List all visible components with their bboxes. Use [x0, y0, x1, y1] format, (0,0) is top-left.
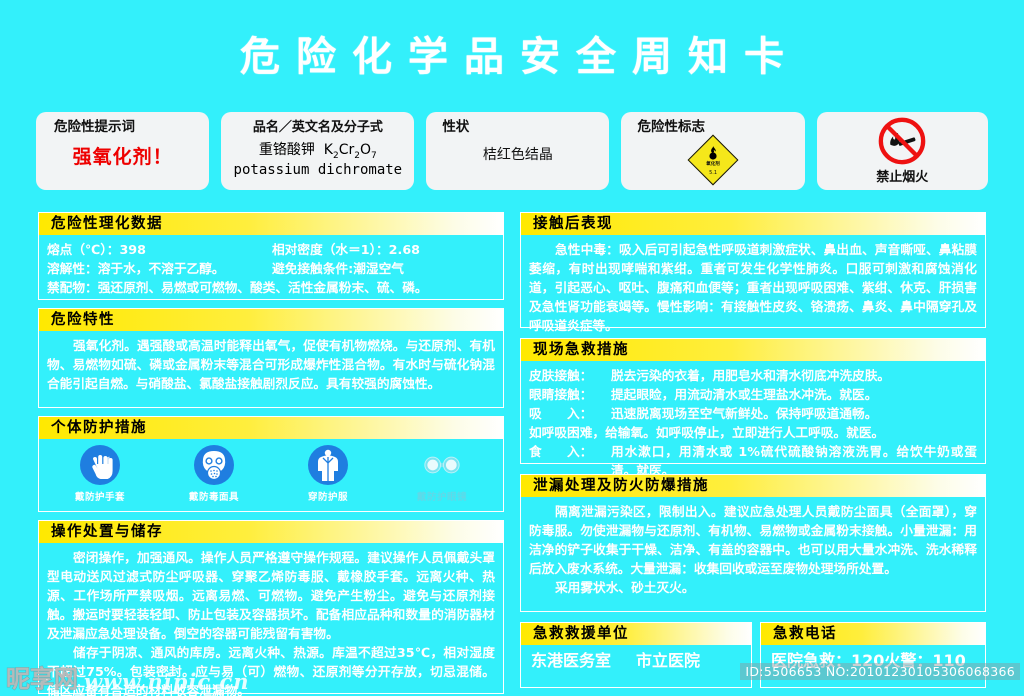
product-name-en: potassium dichromate [231, 162, 404, 178]
product-name-cn-text: 重铬酸钾 [259, 142, 315, 158]
rescue-unit-list: 东港医务室 市立医院 [531, 651, 741, 670]
page-title-text: 危险化学品安全周知卡 [224, 34, 800, 80]
prohibition-label: 禁止烟火 [876, 166, 928, 185]
incompatible-materials: 禁配物：强还原剂、易燃或可燃物、酸类、活性金属粉末、硫、磷。 [47, 278, 495, 297]
first-aid-text-eye: 提起眼睑，用流动清水或生理盐水冲洗。就医。 [611, 385, 977, 404]
exposure-symptoms-text: 急性中毒：吸入后可引起急性呼吸道刺激症状、鼻出血、声音嘶哑、鼻粘膜萎缩，有时出现… [529, 240, 977, 335]
first-aid-row-eye: 眼睛接触： 提起眼睑，用流动清水或生理盐水冲洗。就医。 [529, 385, 977, 404]
ppe-item-goggles: 戴防护眼镜 [385, 445, 499, 503]
panel-physical-data-body: 熔点（℃）：398 相对密度（水＝1）：2.68 溶解性：溶于水，不溶于乙醇。 … [39, 235, 503, 301]
safety-goggles-icon [422, 445, 462, 485]
product-name-cn: 重铬酸钾 K2Cr2O7 [231, 139, 404, 161]
panel-rescue-unit-body: 东港医务室 市立医院 [521, 645, 751, 678]
panel-handling-storage-header: 操作处置与储存 [39, 521, 503, 543]
product-name-card: 品名／英文名及分子式 重铬酸钾 K2Cr2O7 potassium dichro… [221, 112, 414, 190]
panel-hazard-characteristics-header: 危险特性 [39, 309, 503, 331]
gas-mask-icon [194, 445, 234, 485]
page-title: 危险化学品安全周知卡 [0, 34, 1024, 80]
relative-density: 相对密度（水＝1）：2.68 [272, 240, 420, 259]
flame-over-circle-icon [707, 146, 719, 160]
panel-ppe: 个体防护措施 戴防护手套 [38, 416, 504, 512]
solubility: 溶解性：溶于水，不溶于乙醇。 [47, 259, 272, 278]
avoid-conditions: 避免接触条件:潮湿空气 [272, 259, 404, 278]
first-aid-row-inhalation: 吸 入： 迅速脱离现场至空气新鲜处。保持呼吸道通畅。 [529, 404, 977, 423]
hazard-symbol-text: 氧化剂 [691, 162, 735, 168]
site-watermark: 昵享网 www.nipic.cn [6, 659, 250, 694]
site-watermark-cn: 昵享网 [6, 659, 78, 694]
panel-exposure-symptoms-header: 接触后表现 [521, 213, 985, 235]
ppe-label-goggles: 戴防护眼镜 [417, 489, 467, 503]
ppe-item-gas-mask: 戴防毒面具 [157, 445, 271, 503]
panel-rescue-unit-title: 急救救援单位 [533, 626, 629, 642]
id-watermark: ID:5506653 NO:20101230105306068366 [740, 663, 1020, 680]
hazard-characteristics-text: 强氧化剂。遇强酸或高温时能释出氧气，促使有机物燃烧。与还原剂、有机物、易燃物如硫… [47, 336, 495, 393]
panel-leak-fire: 泄漏处理及防火防爆措施 隔离泄漏污染区，限制出入。建议应急处理人员戴防尘面具（全… [520, 474, 986, 612]
diamond-shape [688, 134, 739, 185]
panel-leak-fire-header: 泄漏处理及防火防爆措施 [521, 475, 985, 497]
first-aid-label-inhalation: 吸 入： [529, 404, 611, 423]
ppe-label-gloves: 戴防护手套 [75, 489, 125, 503]
no-smoking-no-fire-icon [876, 116, 928, 166]
appearance-label: 性状 [436, 119, 599, 136]
safety-card-page: 危险化学品安全周知卡 危险性提示词 强氧化剂！ 品名／英文名及分子式 重铬酸钾 … [0, 0, 1024, 696]
panel-leak-fire-title: 泄漏处理及防火防爆措施 [533, 478, 709, 494]
panel-leak-fire-body: 隔离泄漏污染区，限制出入。建议应急处理人员戴防尘面具（全面罩），穿防毒服。勿使泄… [521, 497, 985, 601]
protective-suit-icon [308, 445, 348, 485]
ppe-label-gas-mask: 戴防毒面具 [189, 489, 239, 503]
ppe-item-gloves: 戴防护手套 [43, 445, 157, 503]
rescue-unit-2: 市立医院 [636, 651, 741, 670]
prohibition-card: 禁止烟火 [817, 112, 988, 190]
panel-exposure-symptoms-body: 急性中毒：吸入后可引起急性呼吸道刺激症状、鼻出血、声音嘶哑、鼻粘膜萎缩，有时出现… [521, 235, 985, 339]
first-aid-text-skin: 脱去污染的衣着，用肥皂水和清水彻底冲洗皮肤。 [611, 366, 977, 385]
panel-hazard-characteristics-body: 强氧化剂。遇强酸或高温时能释出氧气，促使有机物燃烧。与还原剂、有机物、易燃物如硫… [39, 331, 503, 397]
panel-hazard-characteristics: 危险特性 强氧化剂。遇强酸或高温时能释出氧气，促使有机物燃烧。与还原剂、有机物、… [38, 308, 504, 408]
physical-data-row: 溶解性：溶于水，不溶于乙醇。 避免接触条件:潮湿空气 [47, 259, 495, 278]
first-aid-label-eye: 眼睛接触： [529, 385, 611, 404]
panel-first-aid-body: 皮肤接触： 脱去污染的衣着，用肥皂水和清水彻底冲洗皮肤。 眼睛接触： 提起眼睑，… [521, 361, 985, 484]
appearance-value: 桔红色结晶 [436, 146, 599, 164]
panel-rescue-unit-header: 急救救援单位 [521, 623, 751, 645]
product-formula: K2Cr2O7 [319, 142, 376, 158]
hazard-word-card: 危险性提示词 强氧化剂！ [36, 112, 209, 190]
panel-rescue-unit: 急救救援单位 东港医务室 市立医院 [520, 622, 752, 688]
panel-physical-data-title: 危险性理化数据 [51, 216, 163, 232]
gloves-icon [80, 445, 120, 485]
panel-emergency-phone-title: 急救电话 [773, 626, 837, 642]
panel-first-aid-header: 现场急救措施 [521, 339, 985, 361]
first-aid-row-inhalation-cont: 如呼吸困难，给输氧。如呼吸停止，立即进行人工呼吸。就医。 [529, 423, 977, 442]
leak-handling-text: 隔离泄漏污染区，限制出入。建议应急处理人员戴防尘面具（全面罩），穿防毒服。勿使泄… [529, 502, 977, 578]
panel-hazard-characteristics-title: 危险特性 [51, 312, 115, 328]
hazard-word-label: 危险性提示词 [46, 119, 199, 136]
hazard-symbol-wrap: 氧化剂 5.1 [631, 134, 794, 185]
panel-first-aid: 现场急救措施 皮肤接触： 脱去污染的衣着，用肥皂水和清水彻底冲洗皮肤。 眼睛接触… [520, 338, 986, 464]
appearance-card: 性状 桔红色结晶 [426, 112, 609, 190]
ppe-item-suit: 穿防护服 [271, 445, 385, 503]
ppe-label-suit: 穿防护服 [308, 489, 348, 503]
panel-ppe-title: 个体防护措施 [51, 420, 147, 436]
panel-physical-data-header: 危险性理化数据 [39, 213, 503, 235]
first-aid-text-inhalation-cont: 如呼吸困难，给输氧。如呼吸停止，立即进行人工呼吸。就医。 [529, 423, 977, 442]
product-name-label: 品名／英文名及分子式 [231, 119, 404, 136]
handling-text: 密闭操作，加强通风。操作人员严格遵守操作规程。建议操作人员佩戴头罩型电动送风过滤… [47, 548, 495, 643]
hazard-word-value: 强氧化剂！ [46, 142, 199, 169]
panel-handling-storage-title: 操作处置与储存 [51, 524, 163, 540]
melting-point: 熔点（℃）：398 [47, 240, 272, 259]
panel-physical-data: 危险性理化数据 熔点（℃）：398 相对密度（水＝1）：2.68 溶解性：溶于水… [38, 212, 504, 300]
rescue-unit-1: 东港医务室 [531, 651, 636, 670]
first-aid-text-inhalation: 迅速脱离现场至空气新鲜处。保持呼吸道通畅。 [611, 404, 977, 423]
first-aid-row-skin: 皮肤接触： 脱去污染的衣着，用肥皂水和清水彻底冲洗皮肤。 [529, 366, 977, 385]
panel-ppe-header: 个体防护措施 [39, 417, 503, 439]
physical-data-row: 熔点（℃）：398 相对密度（水＝1）：2.68 [47, 240, 495, 259]
panel-ppe-body: 戴防护手套 [39, 439, 503, 506]
oxidizer-diamond-icon: 氧化剂 5.1 [691, 138, 735, 182]
panel-first-aid-title: 现场急救措施 [533, 342, 629, 358]
hazard-symbol-class: 5.1 [691, 170, 735, 176]
hazard-symbol-card: 危险性标志 氧化剂 5.1 [621, 112, 804, 190]
header-card-row: 危险性提示词 强氧化剂！ 品名／英文名及分子式 重铬酸钾 K2Cr2O7 pot… [36, 112, 988, 190]
fire-fighting-text: 采用雾状水、砂土灭火。 [529, 578, 977, 597]
panel-exposure-symptoms-title: 接触后表现 [533, 216, 613, 232]
panel-exposure-symptoms: 接触后表现 急性中毒：吸入后可引起急性呼吸道刺激症状、鼻出血、声音嘶哑、鼻粘膜萎… [520, 212, 986, 328]
panel-emergency-phone-header: 急救电话 [761, 623, 985, 645]
site-watermark-url: www.nipic.cn [84, 669, 250, 694]
first-aid-label-skin: 皮肤接触： [529, 366, 611, 385]
